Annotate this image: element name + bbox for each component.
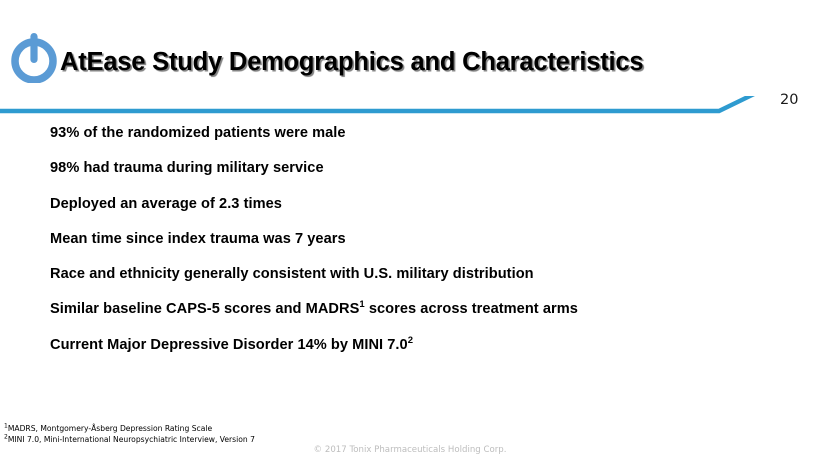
list-item-text-cont: scores across treatment arms xyxy=(365,301,578,317)
list-item: Race and ethnicity generally consistent … xyxy=(50,265,790,300)
page-number: 20 xyxy=(780,92,798,108)
list-item: Deployed an average of 2.3 times xyxy=(50,195,790,230)
footnote-marker: 2 xyxy=(408,335,413,346)
list-item: Current Major Depressive Disorder 14% by… xyxy=(50,336,790,371)
list-item: 98% had trauma during military service xyxy=(50,159,790,194)
list-item: Mean time since index trauma was 7 years xyxy=(50,230,790,265)
footnote-line: 2MINI 7.0, Mini-International Neuropsych… xyxy=(4,435,255,446)
bullet-list: 93% of the randomized patients were male… xyxy=(50,124,790,371)
list-item: 93% of the randomized patients were male xyxy=(50,124,790,159)
page-title: AtEase Study Demographics and Characteri… xyxy=(60,48,643,77)
footnote-text: MADRS, Montgomery-Åsberg Depression Rati… xyxy=(8,424,212,433)
slide: AtEase Study Demographics and Characteri… xyxy=(0,0,820,462)
power-button-logo-icon xyxy=(10,31,58,83)
list-item-text: Current Major Depressive Disorder 14% by… xyxy=(50,337,408,353)
footnote-line: 1MADRS, Montgomery-Åsberg Depression Rat… xyxy=(4,424,255,435)
footnote-text: MINI 7.0, Mini-International Neuropsychi… xyxy=(8,435,255,444)
footnotes: 1MADRS, Montgomery-Åsberg Depression Rat… xyxy=(4,424,255,445)
list-item: Similar baseline CAPS-5 scores and MADRS… xyxy=(50,300,790,335)
list-item-text: Similar baseline CAPS-5 scores and MADRS xyxy=(50,301,359,317)
copyright-notice: © 2017 Tonix Pharmaceuticals Holding Cor… xyxy=(0,445,820,455)
